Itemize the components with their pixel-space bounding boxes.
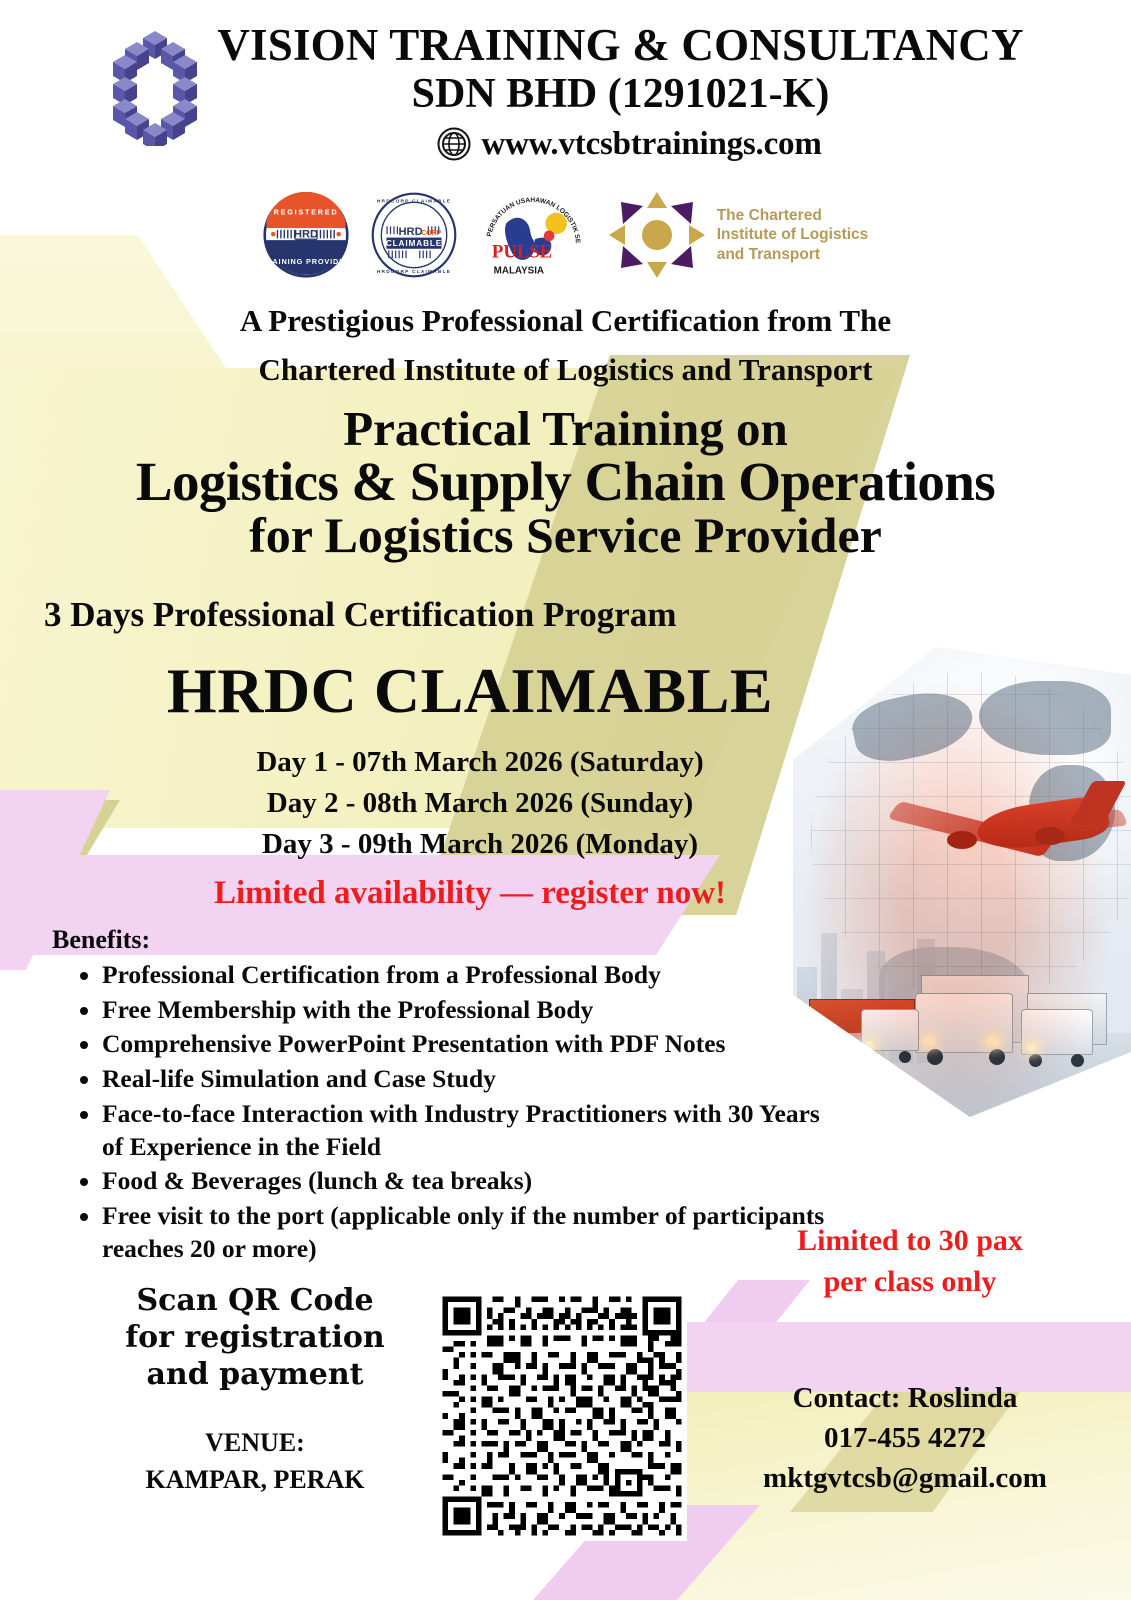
cilt-compass-icon [609, 192, 705, 278]
subtitle-line2: Chartered Institute of Logistics and Tra… [0, 346, 1131, 395]
globe-icon [437, 127, 471, 161]
svg-text:HRDCORP CLAIMABLE: HRDCORP CLAIMABLE [377, 269, 451, 275]
svg-text:CORP: CORP [421, 230, 441, 237]
venue-block: VENUE: KAMPAR, PERAK [110, 1425, 400, 1499]
pulse-malaysia-badge: PERSATUAN USAHAWAN LOGISTIK SEMENANJUNG … [479, 193, 587, 277]
svg-text:PULSE: PULSE [492, 241, 552, 262]
contact-phone[interactable]: 017-455 4272 [690, 1418, 1120, 1458]
svg-text:CLAIMABLE: CLAIMABLE [386, 239, 442, 248]
benefits-heading: Benefits: [52, 925, 150, 955]
svg-text:HRD: HRD [398, 226, 422, 238]
svg-text:MALAYSIA: MALAYSIA [493, 265, 543, 276]
vision-cubes-logo [107, 28, 203, 146]
benefit-item: Real-life Simulation and Case Study [102, 1062, 842, 1095]
contact-email[interactable]: mktgvtcsb@gmail.com [690, 1458, 1120, 1498]
hrdcorp-registered-training-provider-badge: REGISTERED TRAINING PROVIDER [263, 192, 349, 278]
benefit-item: Face-to-face Interaction with Industry P… [102, 1097, 842, 1163]
title-line3: for Logistics Service Provider [0, 510, 1131, 561]
poster-header: VISION TRAINING & CONSULTANCY SDN BHD (1… [0, 0, 1131, 163]
subtitle-line1: A Prestigious Professional Certification… [0, 297, 1131, 346]
benefit-item: Professional Certification from a Profes… [102, 958, 842, 991]
company-name-line1: VISION TRAINING & CONSULTANCY [217, 22, 1023, 69]
cilt-badge: The Chartered Institute of Logistics and… [609, 192, 869, 278]
benefit-item: Comprehensive PowerPoint Presentation wi… [102, 1027, 842, 1060]
limited-availability-notice: Limited availability — register now! [0, 875, 940, 912]
brand-text-block: VISION TRAINING & CONSULTANCY SDN BHD (1… [217, 22, 1023, 163]
benefit-item: Free Membership with the Professional Bo… [102, 993, 842, 1026]
scan-qr-instructions: Scan QR Code for registration and paymen… [110, 1282, 400, 1394]
page-title: Practical Training on Logistics & Supply… [0, 404, 1131, 561]
company-name-line2: SDN BHD (1291021-K) [217, 71, 1023, 118]
schedule-day-1: Day 1 - 07th March 2026 (Saturday) [0, 742, 960, 783]
hrdc-claimable-heading: HRDC CLAIMABLE [0, 654, 940, 728]
registration-qr-code[interactable] [437, 1291, 687, 1541]
website-url[interactable]: www.vtcsbtrainings.com [481, 126, 821, 163]
benefit-item: Food & Beverages (lunch & tea breaks) [102, 1164, 842, 1197]
subtitle-block: A Prestigious Professional Certification… [0, 297, 1131, 395]
svg-text:HRDCORP CLAIMABLE: HRDCORP CLAIMABLE [377, 198, 451, 204]
venue-value: KAMPAR, PERAK [110, 1462, 400, 1499]
title-line2: Logistics & Supply Chain Operations [0, 454, 1131, 510]
contact-person: Contact: Roslinda [690, 1378, 1120, 1418]
cilt-label: The Chartered Institute of Logistics and… [717, 206, 869, 264]
contact-block: Contact: Roslinda 017-455 4272 mktgvtcsb… [690, 1378, 1120, 1498]
svg-text:TRAINING PROVIDER: TRAINING PROVIDER [263, 257, 349, 266]
limited-pax-notice: Limited to 30 pax per class only [700, 1221, 1120, 1302]
accreditation-badges: REGISTERED TRAINING PROVIDER [0, 192, 1131, 278]
title-line1: Practical Training on [0, 404, 1131, 454]
schedule-day-3: Day 3 - 09th March 2026 (Monday) [0, 824, 960, 865]
svg-text:REGISTERED: REGISTERED [273, 207, 338, 216]
schedule-dates: Day 1 - 07th March 2026 (Saturday) Day 2… [0, 742, 960, 866]
venue-label: VENUE: [110, 1425, 400, 1462]
hrdcorp-claimable-badge: HRDCORP CLAIMABLE HRDCORP CLAIMABLE HRD … [371, 192, 457, 278]
program-duration-line: 3 Days Professional Certification Progra… [44, 595, 676, 635]
training-flyer-poster: VISION TRAINING & CONSULTANCY SDN BHD (1… [0, 0, 1131, 1600]
schedule-day-2: Day 2 - 08th March 2026 (Sunday) [0, 783, 960, 824]
